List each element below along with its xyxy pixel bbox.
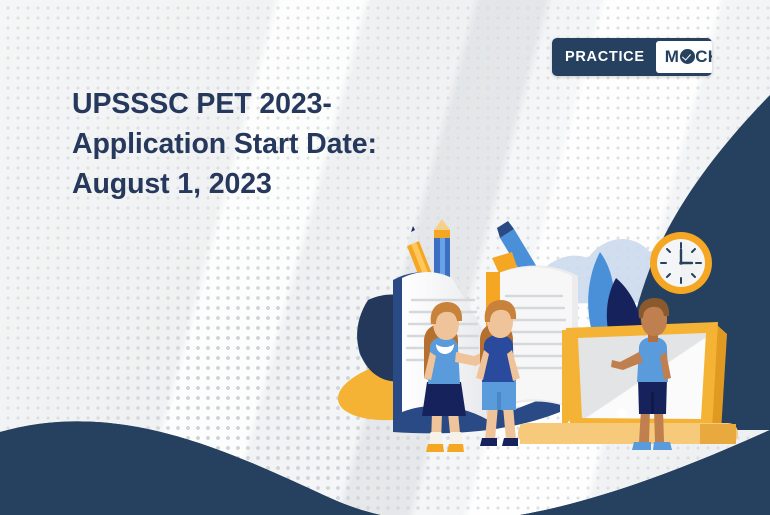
logo-mock-text: MCK xyxy=(665,47,712,67)
logo-mock-text-after: CK xyxy=(695,47,712,66)
page-title-line-2: Application Start Date: xyxy=(72,124,472,164)
page-title-line-3: August 1, 2023 xyxy=(72,164,472,204)
illustration xyxy=(0,0,770,515)
laptop-indicator-dot xyxy=(618,409,627,418)
logo-mock-box: MCK xyxy=(656,41,712,73)
logo-mock-text-before: M xyxy=(665,47,679,66)
page-title-line-1: UPSSSC PET 2023- xyxy=(72,84,472,124)
laptop-base-side xyxy=(700,424,736,444)
page-title: UPSSSC PET 2023- Application Start Date:… xyxy=(72,84,472,204)
check-circle-icon xyxy=(680,49,695,64)
practicemock-logo[interactable]: PRACTICE MCK xyxy=(552,38,712,76)
wall-clock xyxy=(650,232,712,294)
banner-root: PRACTICE MCK UPSSSC PET 2023- Applicatio… xyxy=(0,0,770,515)
logo-practice-text: PRACTICE xyxy=(552,49,656,65)
